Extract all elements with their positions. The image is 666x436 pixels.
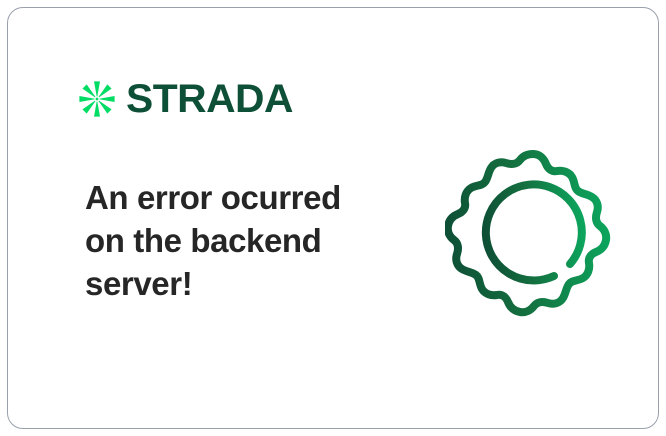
- error-message: An error ocurred on the backend server!: [85, 176, 385, 305]
- brand-wordmark: STRADA: [126, 79, 293, 119]
- gear-illustration: [445, 142, 621, 318]
- brand-lockup: STRADA: [77, 74, 290, 124]
- strada-asterisk-icon: [77, 79, 117, 119]
- error-card: STRADA An error ocurred on the backend s…: [7, 7, 659, 429]
- gear-icon: [445, 142, 621, 318]
